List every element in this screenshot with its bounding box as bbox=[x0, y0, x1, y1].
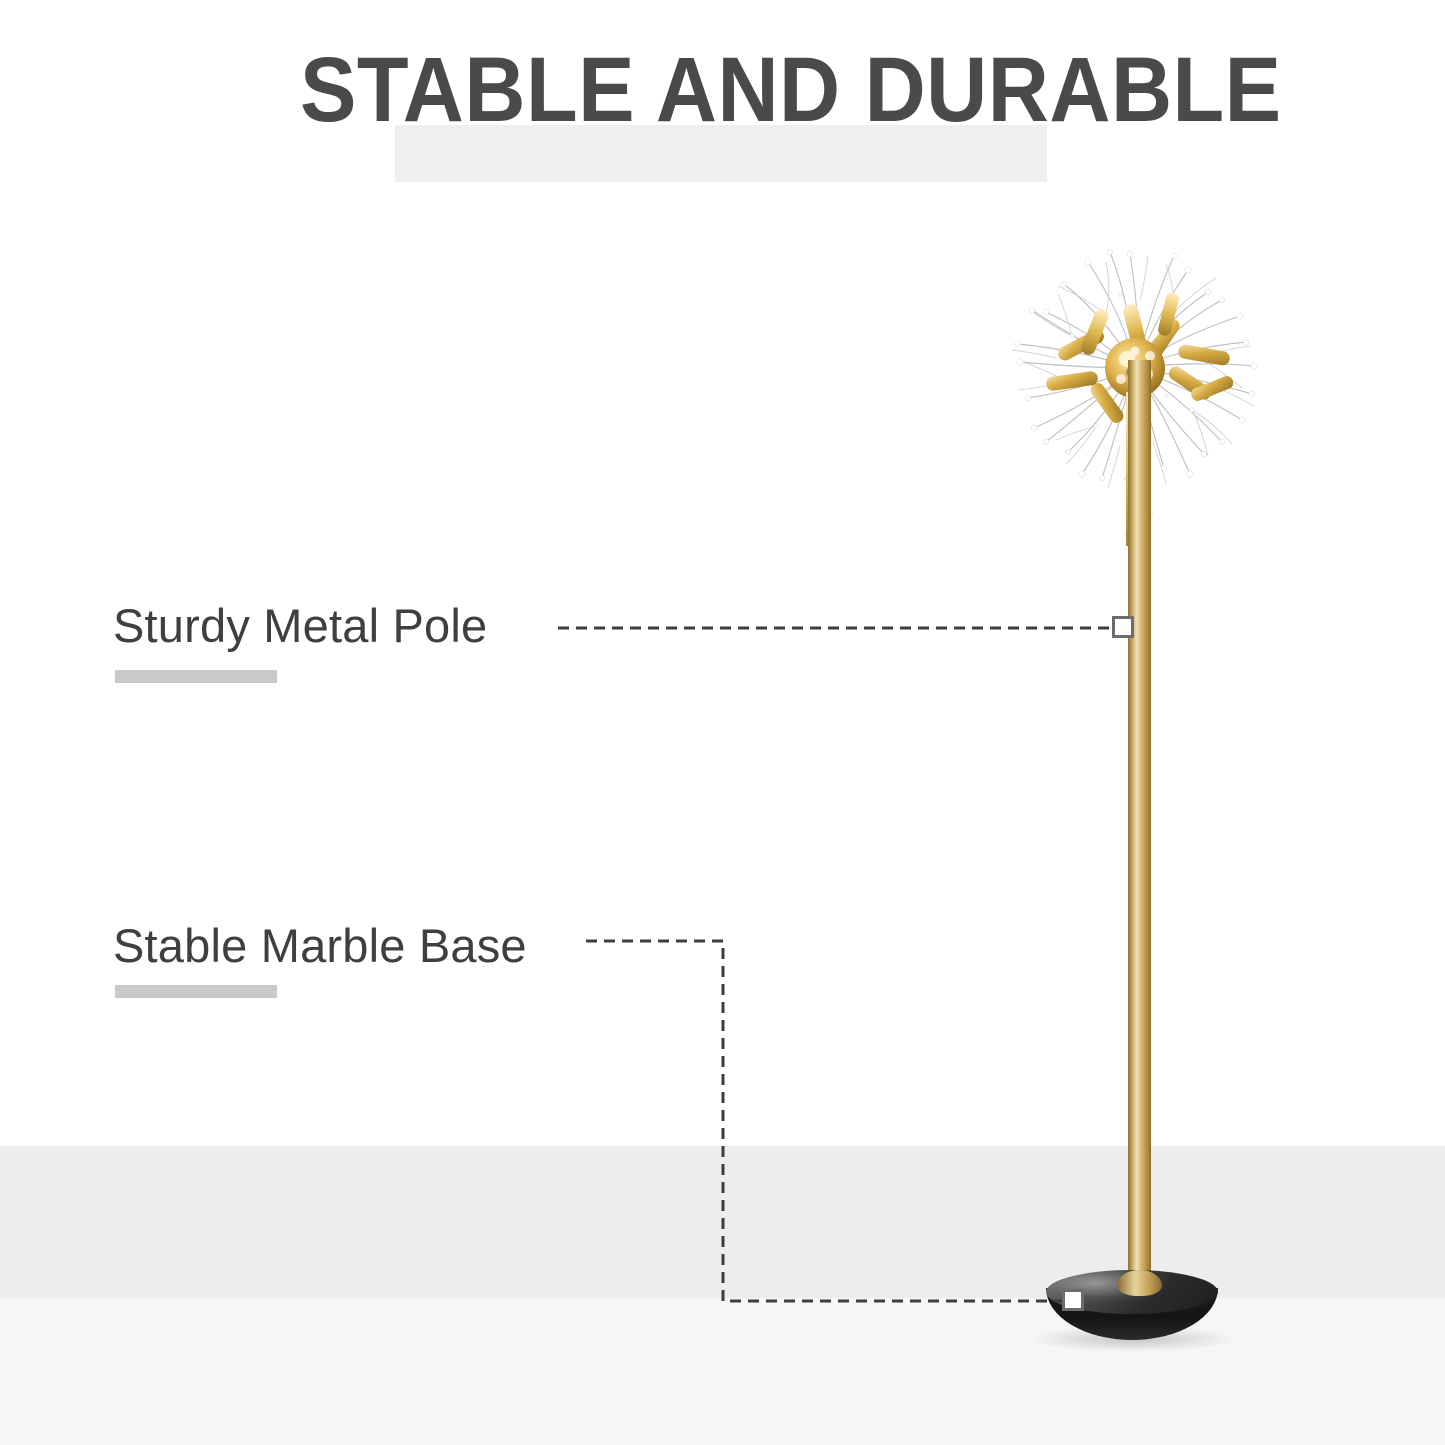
callout-label-base: Stable Marble Base bbox=[113, 918, 527, 973]
infographic-canvas: STABLE AND DURABLE bbox=[0, 0, 1445, 1445]
connector-line-base bbox=[586, 941, 1062, 1301]
callout-underline-pole bbox=[115, 670, 277, 683]
callout-marker-base[interactable] bbox=[1062, 1289, 1084, 1311]
callout-connectors bbox=[0, 0, 1445, 1445]
callout-marker-pole[interactable] bbox=[1112, 616, 1134, 638]
callout-label-pole: Sturdy Metal Pole bbox=[113, 598, 487, 653]
callout-underline-base bbox=[115, 985, 277, 998]
